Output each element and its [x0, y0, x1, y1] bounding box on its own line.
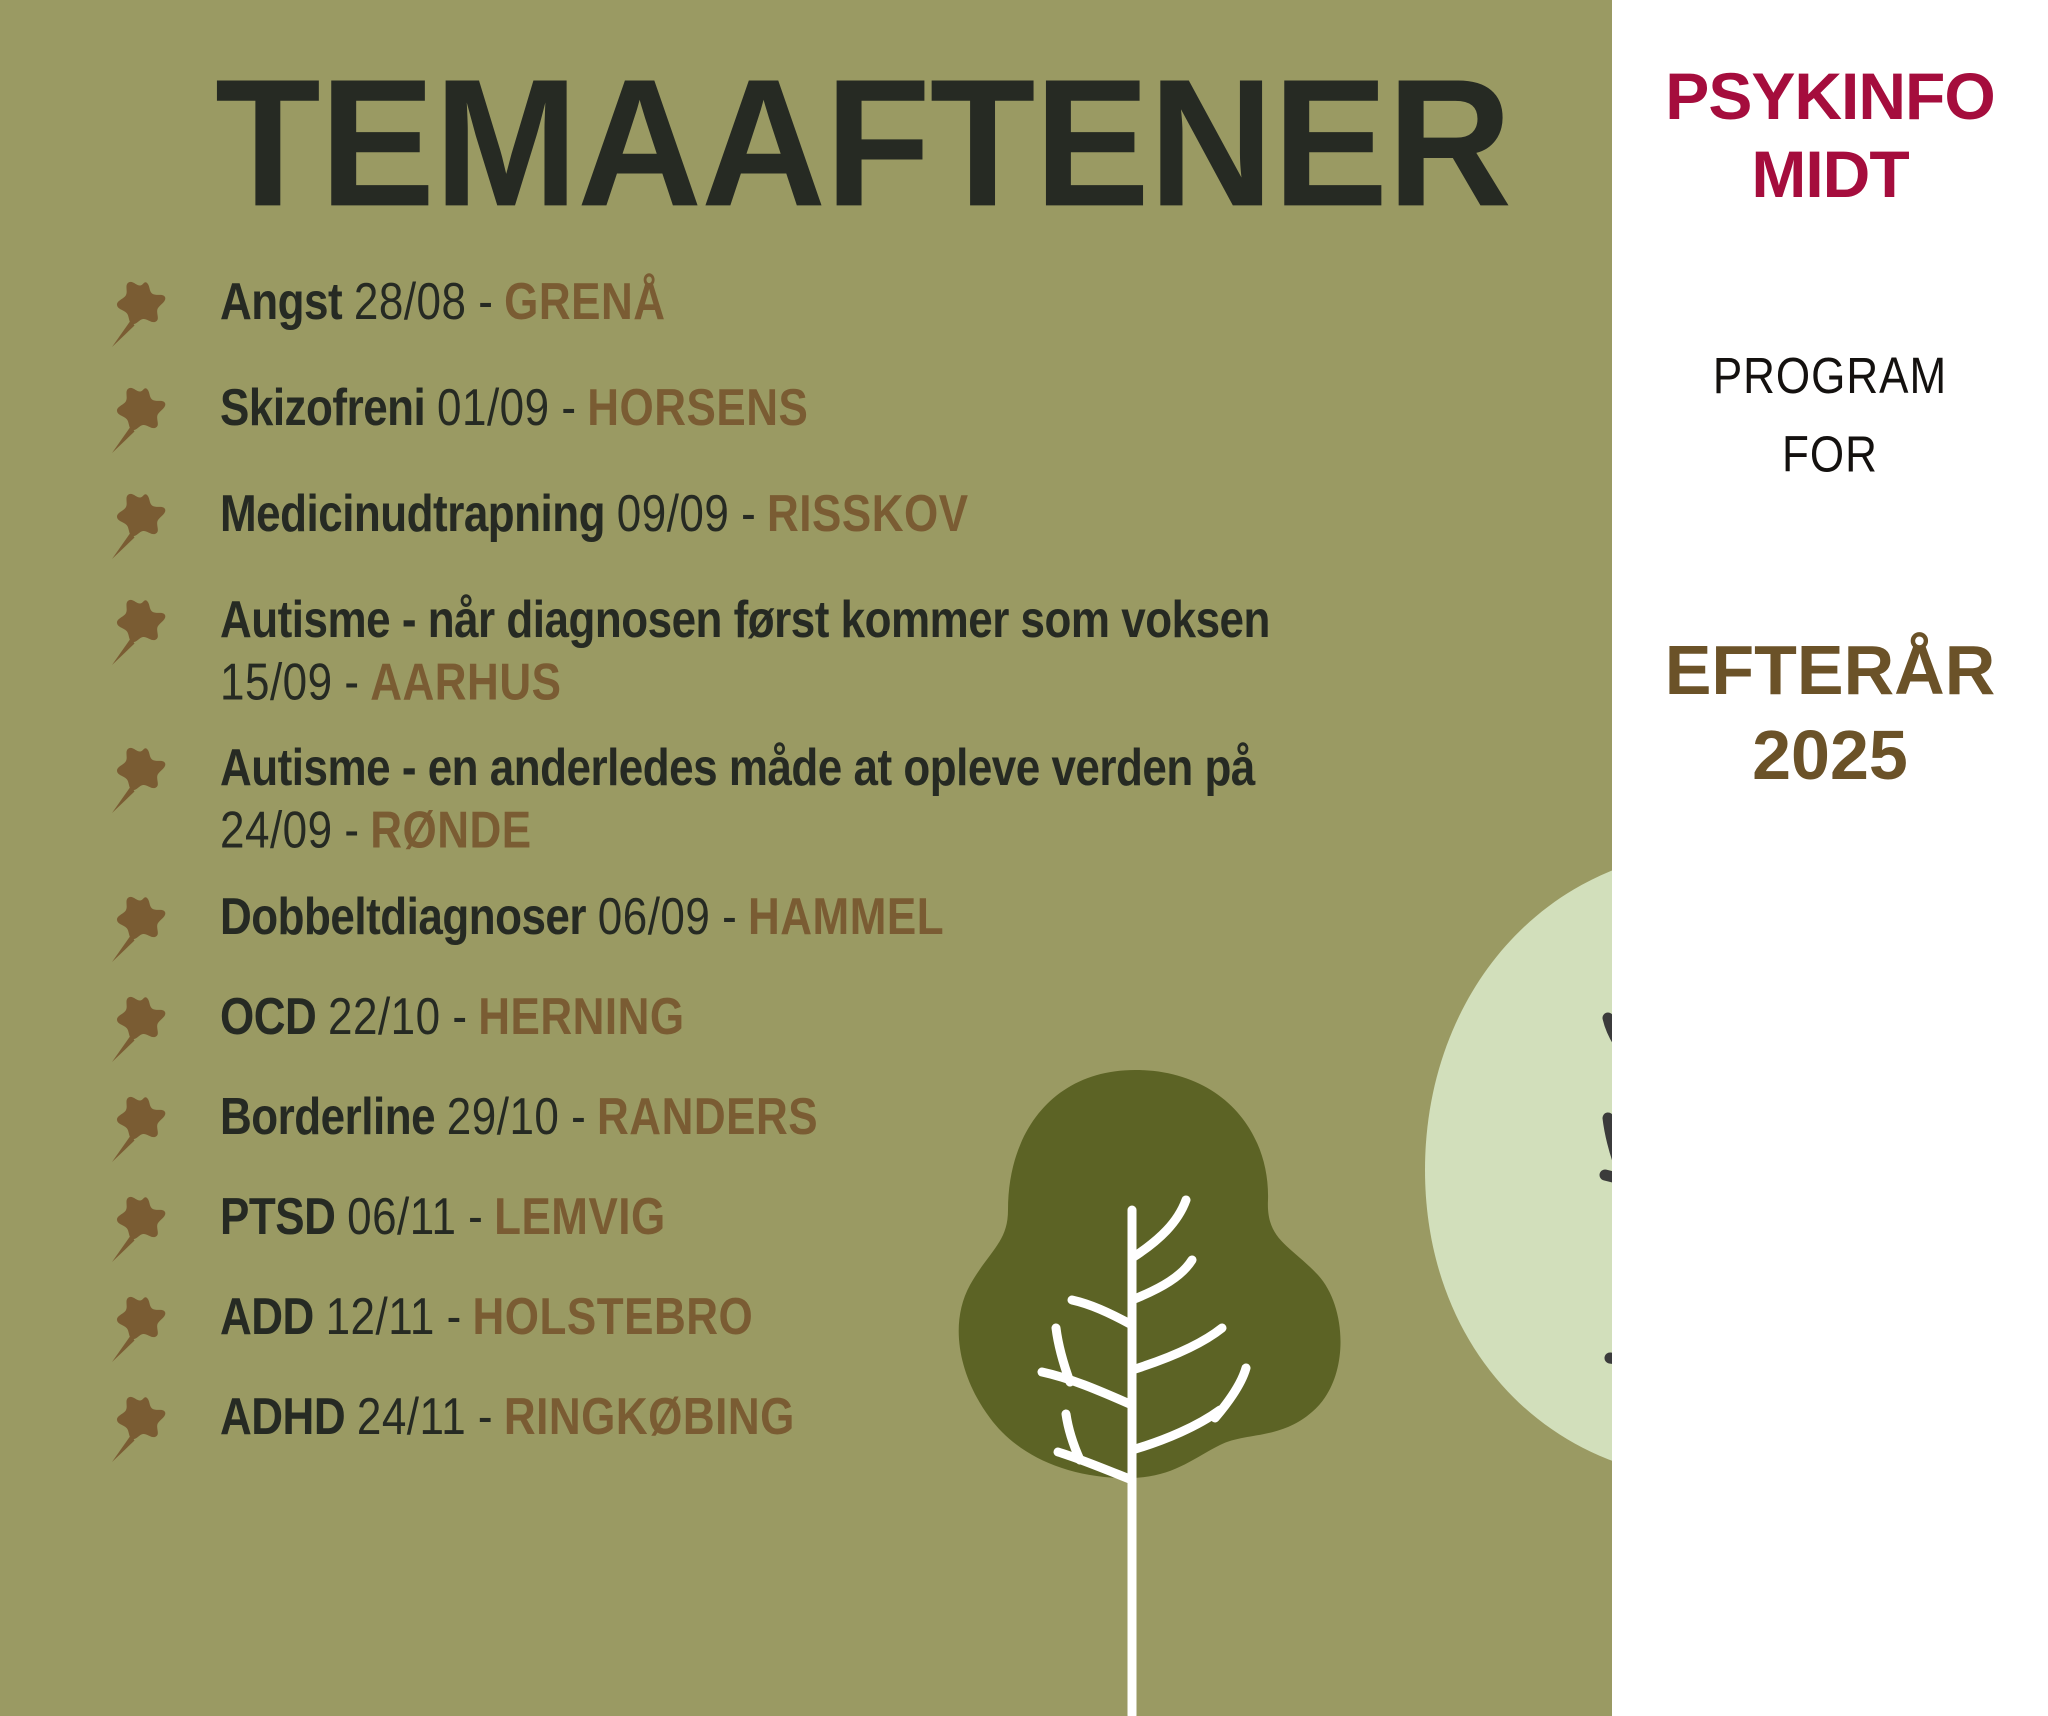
program-label: PROGRAM FOR: [1612, 338, 2048, 495]
pushpin-icon: [110, 378, 220, 456]
pushpin-icon: [110, 987, 220, 1065]
event-date: 12/11: [326, 1288, 435, 1346]
event-date: 24/11: [357, 1388, 466, 1446]
pushpin-icon: [110, 738, 220, 816]
event-city: RINGKØBING: [504, 1388, 795, 1446]
event-city: RISSKOV: [767, 485, 969, 543]
season-line-1: EFTERÅR: [1612, 628, 2048, 713]
event-text: Angst 28/08 - GRENÅ: [220, 272, 1540, 334]
pushpin-icon: [110, 887, 220, 965]
event-city: HERNING: [478, 988, 684, 1046]
event-topic: ADHD: [220, 1388, 345, 1446]
event-topic: PTSD: [220, 1188, 335, 1246]
brand-line-1: PSYKINFO: [1665, 59, 1994, 133]
list-item[interactable]: Dobbeltdiagnoser 06/09 - HAMMEL: [110, 887, 1540, 965]
brand-wordmark: PSYKINFO MIDT: [1612, 58, 2048, 214]
event-text: Skizofreni 01/09 - HORSENS: [220, 378, 1540, 440]
pushpin-icon: [110, 1287, 220, 1365]
list-item[interactable]: Autisme - når diagnosen først kommer som…: [110, 590, 1540, 696]
list-item[interactable]: Skizofreni 01/09 - HORSENS: [110, 378, 1540, 456]
event-text: Dobbeltdiagnoser 06/09 - HAMMEL: [220, 887, 1540, 949]
event-date: 24/09: [220, 801, 333, 859]
program-line-1: PROGRAM: [1612, 338, 2048, 416]
event-city: HAMMEL: [748, 888, 944, 946]
event-separator: -: [452, 988, 466, 1046]
event-separator: -: [478, 273, 492, 331]
event-date: 09/09: [617, 485, 730, 543]
event-text: Medicinudtrapning 09/09 - RISSKOV: [220, 484, 1540, 546]
event-topic: Angst: [220, 273, 342, 331]
list-item[interactable]: OCD 22/10 - HERNING: [110, 987, 1540, 1065]
event-city: LEMVIG: [494, 1188, 666, 1246]
season-line-2: 2025: [1612, 713, 2048, 798]
event-date: 15/09: [220, 653, 333, 711]
event-topic: Borderline: [220, 1088, 435, 1146]
list-item[interactable]: Medicinudtrapning 09/09 - RISSKOV: [110, 484, 1540, 562]
event-separator: -: [468, 1188, 482, 1246]
event-separator: -: [344, 801, 358, 859]
event-topic: Autisme - når diagnosen først kommer som…: [220, 591, 1270, 649]
brand-line-2: MIDT: [1612, 136, 2048, 214]
event-topic: OCD: [220, 988, 316, 1046]
event-separator: -: [344, 653, 358, 711]
event-city: HOLSTEBRO: [473, 1288, 754, 1346]
season-label: EFTERÅR 2025: [1612, 628, 2048, 799]
event-city: RØNDE: [370, 801, 531, 859]
dark-olive-tree: [920, 1060, 1350, 1716]
pushpin-icon: [110, 590, 220, 668]
event-text: Autisme - når diagnosen først kommer som…: [220, 590, 1540, 715]
event-city: HORSENS: [587, 379, 808, 437]
event-city: AARHUS: [370, 653, 561, 711]
list-item[interactable]: Autisme - en anderledes måde at opleve v…: [110, 738, 1540, 844]
pushpin-icon: [110, 1387, 220, 1465]
poster-root: TEMAAFTENER Angst 28/08 - GRENÅ: [0, 0, 2048, 1716]
pushpin-icon: [110, 272, 220, 350]
event-city: GRENÅ: [504, 273, 665, 331]
event-separator: -: [447, 1288, 461, 1346]
event-city: RANDERS: [597, 1088, 818, 1146]
event-date: 06/11: [347, 1188, 456, 1246]
event-separator: -: [571, 1088, 585, 1146]
event-topic: Autisme - en anderledes måde at opleve v…: [220, 739, 1255, 797]
event-text: OCD 22/10 - HERNING: [220, 987, 1540, 1049]
program-line-2: FOR: [1612, 416, 2048, 494]
event-text: Autisme - en anderledes måde at opleve v…: [220, 738, 1540, 863]
event-date: 29/10: [447, 1088, 560, 1146]
event-separator: -: [741, 485, 755, 543]
event-date: 01/09: [437, 379, 550, 437]
event-topic: Dobbeltdiagnoser: [220, 888, 586, 946]
event-separator: -: [561, 379, 575, 437]
event-topic: Medicinudtrapning: [220, 485, 605, 543]
event-topic: Skizofreni: [220, 379, 425, 437]
event-separator: -: [722, 888, 736, 946]
page-title: TEMAAFTENER: [215, 52, 1511, 233]
event-date: 22/10: [328, 988, 441, 1046]
event-separator: -: [478, 1388, 492, 1446]
sidebar-panel: PSYKINFO MIDT PROGRAM FOR EFTERÅR 2025: [1612, 0, 2048, 1716]
list-item[interactable]: Angst 28/08 - GRENÅ: [110, 272, 1540, 350]
pushpin-icon: [110, 1087, 220, 1165]
pushpin-icon: [110, 1187, 220, 1265]
event-date: 28/08: [354, 273, 467, 331]
event-topic: ADD: [220, 1288, 314, 1346]
event-date: 06/09: [598, 888, 711, 946]
pushpin-icon: [110, 484, 220, 562]
